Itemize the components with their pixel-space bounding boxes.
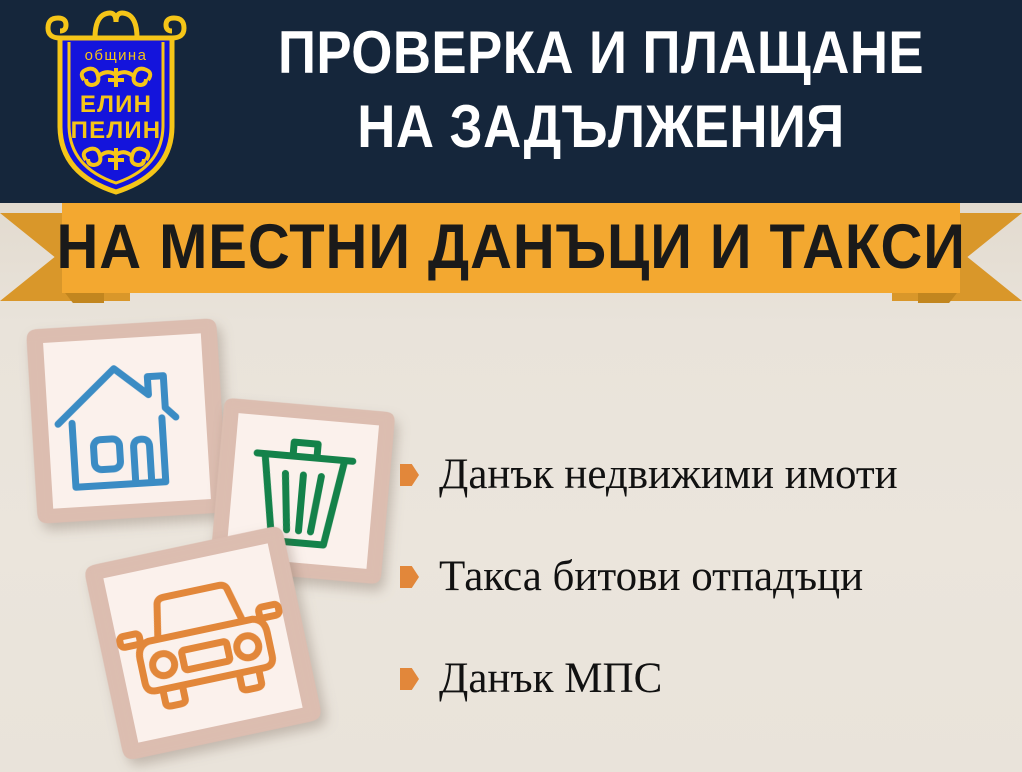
stamp-car-graphic <box>67 509 339 772</box>
list-item-vehicle-tax[interactable]: Данък МПС <box>400 628 1010 730</box>
arrow-bullet-icon <box>400 464 419 486</box>
ribbon-band: НА МЕСТНИ ДАНЪЦИ И ТАКСИ <box>62 201 960 293</box>
list-item-label: Такса битови отпадъци <box>439 553 863 601</box>
page-title-line-1: ПРОВЕРКА И ПЛАЩАНЕ <box>239 16 962 90</box>
page-title: ПРОВЕРКА И ПЛАЩАНЕ НА ЗАДЪЛЖЕНИЯ <box>239 16 962 164</box>
stamp-card-vehicle-tax <box>67 509 339 772</box>
ribbon-label: НА МЕСТНИ ДАНЪЦИ И ТАКСИ <box>56 216 965 279</box>
list-item-label: Данък недвижими имоти <box>439 451 898 499</box>
crest-icon: община ЕЛИН ПЕЛИН <box>38 8 194 196</box>
municipality-crest-logo: община ЕЛИН ПЕЛИН <box>38 8 194 196</box>
poster-canvas: ПРОВЕРКА И ПЛАЩАНЕ НА ЗАДЪЛЖЕНИЯ <box>0 0 1022 772</box>
svg-text:община: община <box>85 47 148 64</box>
arrow-bullet-icon <box>400 566 419 588</box>
svg-text:ПЕЛИН: ПЕЛИН <box>71 117 162 144</box>
service-list: Данък недвижими имоти Такса битови отпад… <box>400 424 1010 730</box>
list-item-waste-fee[interactable]: Такса битови отпадъци <box>400 526 1010 628</box>
arrow-bullet-icon <box>400 668 419 690</box>
page-title-line-2: НА ЗАДЪЛЖЕНИЯ <box>239 90 962 164</box>
list-item-property-tax[interactable]: Данък недвижими имоти <box>400 424 1010 526</box>
svg-text:ЕЛИН: ЕЛИН <box>80 91 152 118</box>
list-item-label: Данък МПС <box>439 655 662 703</box>
subtitle-ribbon: НА МЕСТНИ ДАНЪЦИ И ТАКСИ <box>0 196 1022 308</box>
